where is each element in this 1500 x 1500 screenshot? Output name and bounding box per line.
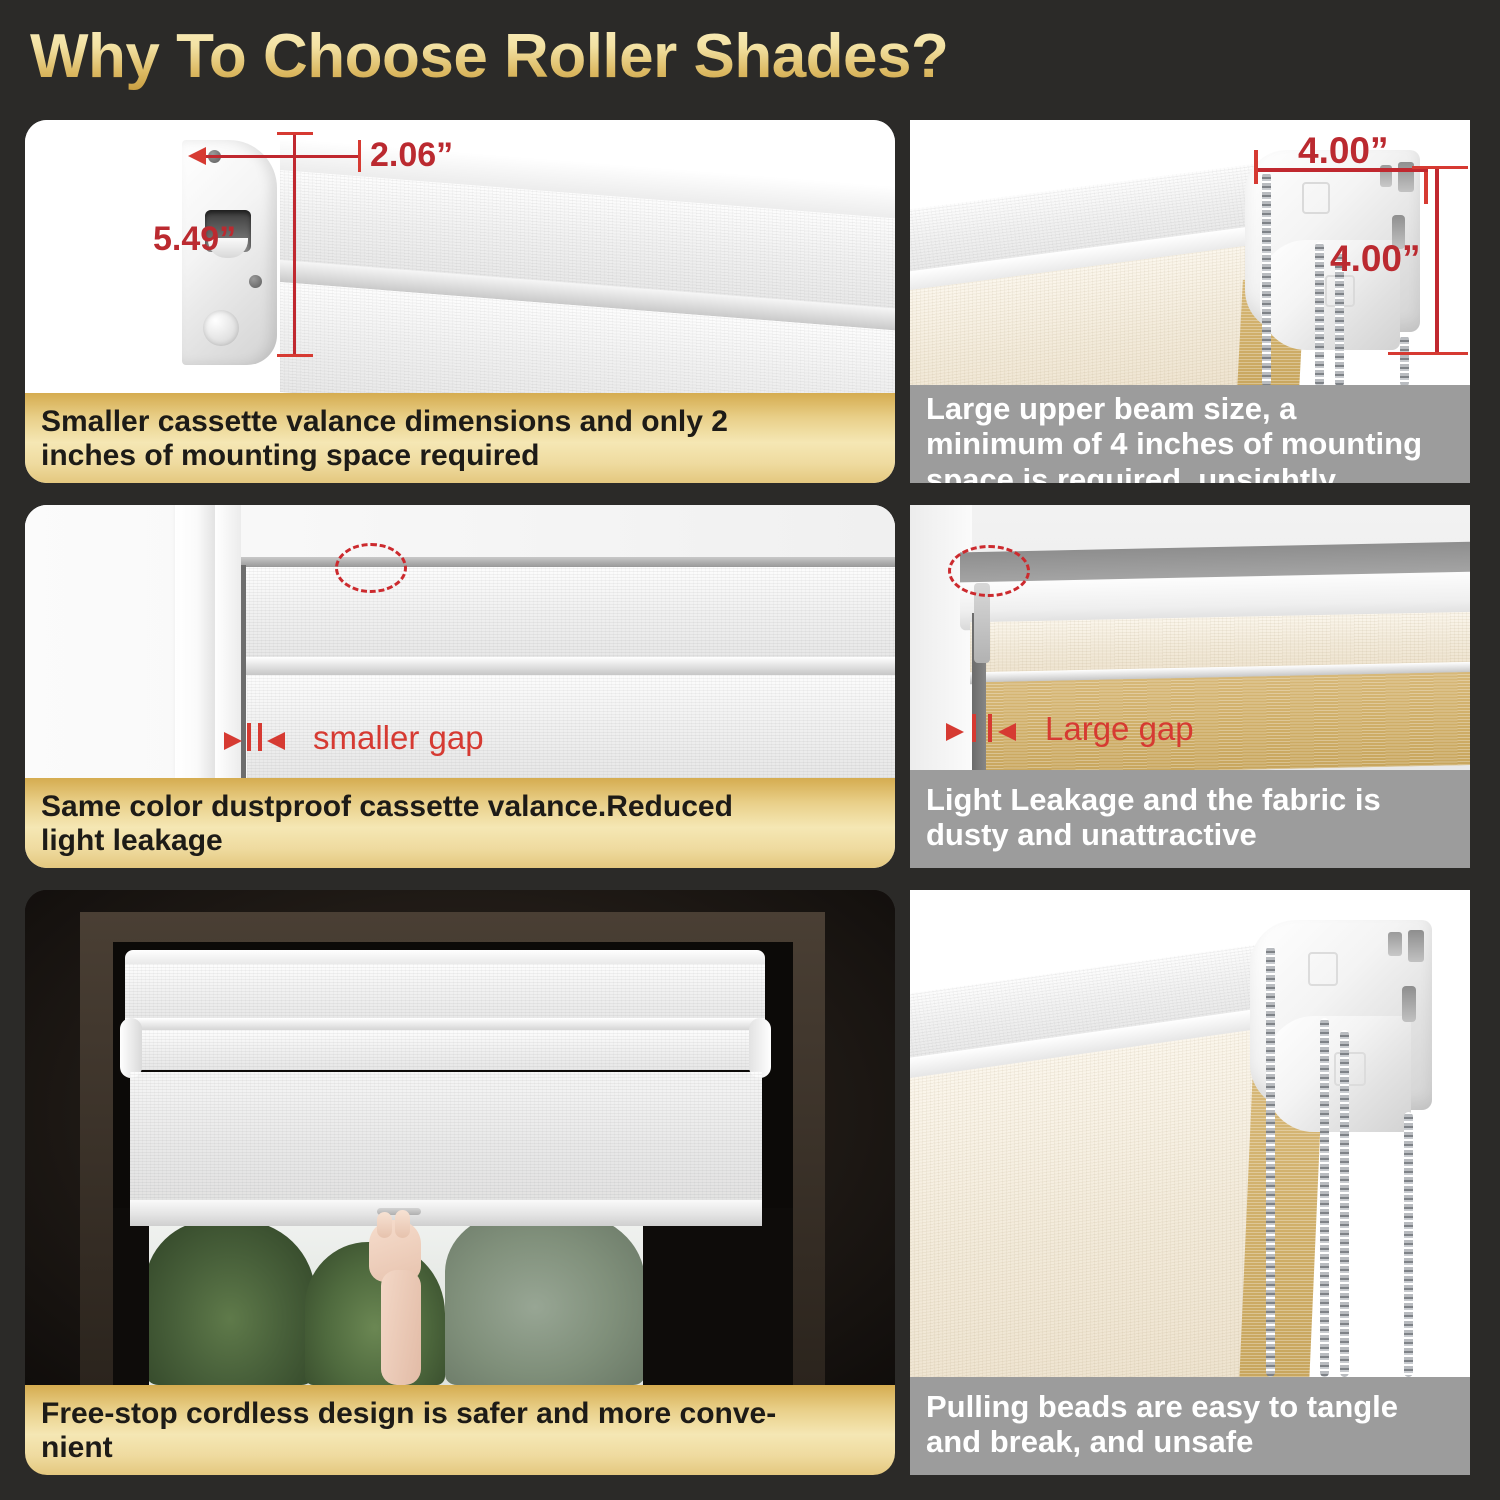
bead-chain-2 (1315, 242, 1324, 385)
panel-2-photo: 4.00” 4.00” (910, 120, 1470, 385)
panel-3-photo: smaller gap (25, 505, 895, 778)
panel-4-caption: Light Leakage and the fabric is dusty an… (910, 770, 1470, 868)
dim-right-height-line (1435, 168, 1439, 354)
mullion-left (113, 1208, 149, 1385)
forearm (381, 1270, 421, 1385)
dim-right-height-tick-top (1412, 166, 1468, 169)
endcap-left (120, 1018, 142, 1078)
page-title: Why To Choose Roller Shades? (30, 21, 948, 92)
gap-tick-b (258, 723, 262, 751)
bottom-rail (130, 1200, 762, 1226)
panel-large-upper-beam: 4.00” 4.00” Large upper beam size, a min… (910, 120, 1470, 483)
gap-label: smaller gap (313, 719, 484, 757)
caption-line: inches of mounting space required (41, 439, 728, 473)
highlight-circle (948, 545, 1030, 597)
headrail-face (125, 964, 765, 1022)
gap-arrow-right (946, 723, 964, 741)
bead-chain-4 (1400, 335, 1409, 385)
panel-5-photo (25, 890, 895, 1385)
gap-label: Large gap (1045, 710, 1194, 748)
panel-4-photo: Large gap (910, 505, 1470, 770)
panel-1-photo: 2.06” 5.49” (25, 120, 895, 393)
bracket-slot-a (1388, 932, 1402, 956)
window-casing-left (175, 505, 219, 778)
cream-fabric (910, 1026, 1280, 1377)
caption-line: Pulling beads are easy to tangle (926, 1389, 1398, 1424)
panel-6-caption: Pulling beads are easy to tangle and bre… (910, 1377, 1470, 1475)
dim-width-tick-right (358, 140, 361, 172)
caption-line: light leakage (41, 824, 733, 858)
dim-height-label: 5.49” (153, 220, 236, 259)
caption-line: Free-stop cordless design is safer and m… (41, 1397, 776, 1431)
caption-line: Large upper beam size, a (926, 391, 1422, 426)
dim-top-width-label: 4.00” (1298, 130, 1389, 172)
bead-chain-4 (1404, 1112, 1413, 1377)
tree-left (145, 1220, 315, 1385)
bead-chain-1 (1262, 172, 1271, 385)
dim-right-height-tick-bottom (1388, 352, 1468, 355)
caption-line: space is required, unsightly (926, 462, 1422, 483)
caption-line: and break, and unsafe (926, 1424, 1398, 1459)
dim-width-label: 2.06” (370, 136, 453, 175)
bracket-emboss-b (1334, 1052, 1366, 1086)
bead-chain-3 (1340, 1030, 1349, 1377)
panel-3-caption: Same color dustproof cassette valance.Re… (25, 778, 895, 868)
panel-pulling-beads: Pulling beads are easy to tangle and bre… (910, 890, 1470, 1475)
endcap-right (749, 1018, 771, 1078)
panel-6-photo (910, 890, 1470, 1377)
dim-right-height-label: 4.00” (1330, 238, 1421, 280)
panel-5-caption: Free-stop cordless design is safer and m… (25, 1385, 895, 1475)
panel-light-leakage: Large gap Light Leakage and the fabric i… (910, 505, 1470, 868)
bracket-slot-b (1408, 930, 1424, 962)
dim-top-width-tick-right (1424, 172, 1428, 204)
gap-arrow-left (267, 732, 285, 750)
caption-line: Light Leakage and the fabric is (926, 782, 1381, 817)
panel-1-caption: Smaller cassette valance dimensions and … (25, 393, 895, 483)
panel-cordless-design: Free-stop cordless design is safer and m… (25, 890, 895, 1475)
gap-tick-a (247, 723, 251, 751)
mount-boss (203, 310, 239, 346)
gap-tick-b (988, 714, 992, 742)
bead-chain-1 (1266, 946, 1275, 1377)
bead-chain-2 (1320, 1018, 1329, 1377)
valance-lower (125, 1030, 765, 1070)
caption-line: nient (41, 1431, 776, 1465)
dim-top-width-tick-left (1254, 150, 1258, 184)
hand-finger-1 (377, 1212, 392, 1238)
title-bar: Why To Choose Roller Shades? (0, 0, 1500, 112)
hand-finger-2 (395, 1210, 410, 1238)
bracket-emboss-a (1308, 952, 1338, 986)
screw-mid (249, 275, 262, 288)
dim-height-tick-top (277, 132, 313, 135)
panel-2-caption: Large upper beam size, a minimum of 4 in… (910, 385, 1470, 483)
dim-width-arrow-left (188, 147, 206, 165)
dim-height-line (293, 132, 296, 357)
gap-tick-a (972, 714, 976, 742)
headrail-bottom-lip (241, 657, 895, 675)
caption-line: Same color dustproof cassette valance.Re… (41, 790, 733, 824)
panel-dustproof-valance: smaller gap Same color dustproof cassett… (25, 505, 895, 868)
highlight-circle (335, 543, 407, 593)
caption-line: dusty and unattractive (926, 817, 1381, 852)
caption-line: minimum of 4 inches of mounting (926, 426, 1422, 461)
mullion-right (643, 1208, 793, 1385)
caption-line: Smaller cassette valance dimensions and … (41, 405, 728, 439)
gap-arrow-left (998, 723, 1016, 741)
bracket-slot-c (1402, 986, 1416, 1022)
dim-height-tick-bottom (277, 354, 313, 357)
panel-smaller-cassette: 2.06” 5.49” Smaller cassette valance dim… (25, 120, 895, 483)
gap-arrow-right (224, 732, 242, 750)
tree-right (445, 1212, 645, 1385)
dim-width-line (195, 155, 360, 158)
bracket-emboss-a (1302, 182, 1330, 214)
